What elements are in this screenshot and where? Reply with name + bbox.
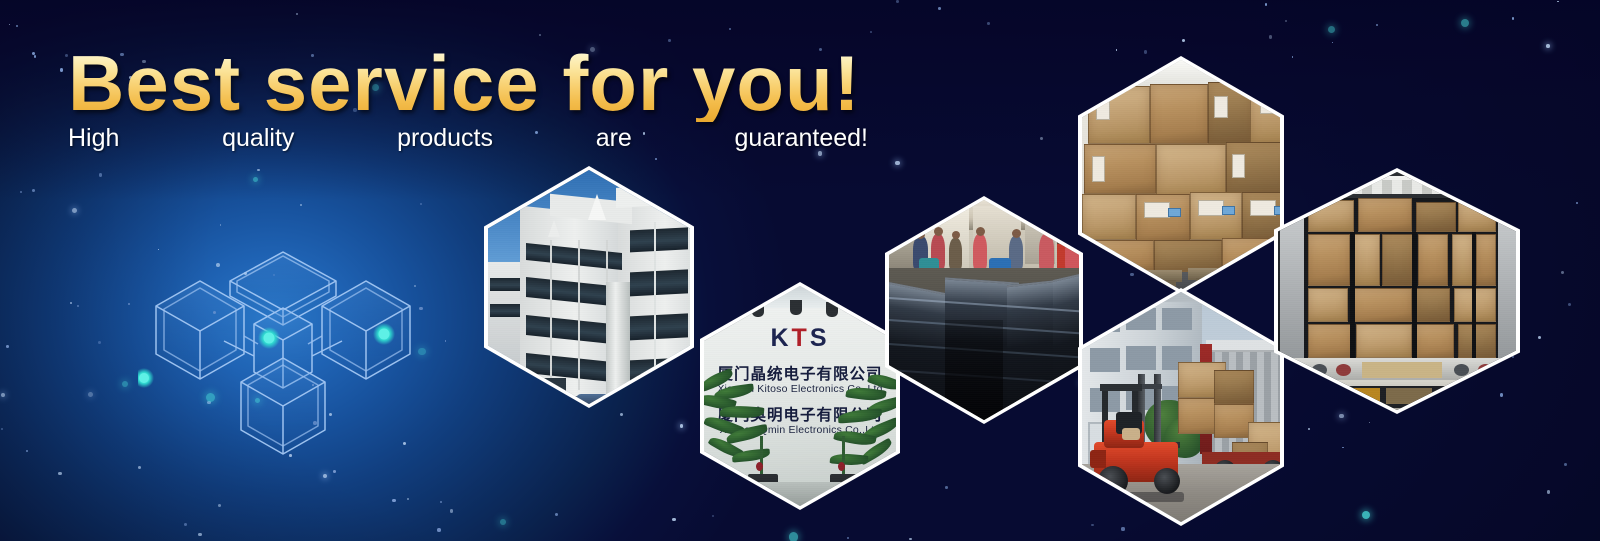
star-dot [26, 450, 28, 452]
star-dot [620, 413, 623, 416]
kts-letter-k: K [770, 324, 791, 352]
star-dot [1362, 511, 1370, 519]
star-dot [945, 486, 948, 489]
star-dot [58, 472, 62, 476]
star-dot [987, 22, 990, 25]
star-dot [122, 381, 128, 387]
star-dot [1130, 273, 1134, 277]
star-dot [909, 538, 912, 541]
star-dot [847, 537, 849, 539]
star-dot [98, 341, 101, 344]
star-dot [500, 519, 506, 525]
star-dot [729, 28, 731, 30]
star-dot [1342, 447, 1343, 448]
subheadline-word-1: quality [222, 124, 294, 153]
star-dot [440, 501, 442, 503]
headline-text: Best service for you! [68, 44, 868, 122]
star-dot [34, 55, 37, 58]
star-dot [1040, 137, 1043, 140]
star-dot [1538, 336, 1541, 339]
kts-logo: KTS [704, 324, 896, 353]
star-dot [72, 208, 78, 214]
star-dot [555, 513, 558, 516]
star-dot [99, 173, 103, 177]
star-dot [1564, 463, 1567, 466]
star-dot [218, 504, 221, 507]
star-dot [1091, 524, 1094, 527]
star-dot [1339, 414, 1344, 419]
star-dot [1461, 19, 1470, 28]
star-dot [1546, 44, 1550, 48]
star-dot [712, 515, 714, 517]
star-dot [6, 345, 9, 348]
star-dot [1285, 20, 1287, 22]
star-dot [32, 189, 35, 192]
star-dot [1328, 26, 1335, 33]
star-dot [1568, 303, 1571, 306]
star-dot [1269, 35, 1273, 39]
star-dot [60, 68, 64, 72]
star-dot [88, 392, 93, 397]
star-dot [198, 533, 201, 536]
subheadline-word-0: High [68, 124, 119, 153]
isometric-cube-icon [138, 186, 428, 486]
star-dot [672, 518, 676, 522]
star-dot [296, 13, 298, 15]
star-dot [1116, 49, 1118, 51]
star-dot [450, 509, 454, 513]
promotional-banner: Best service for you! High quality produ… [0, 0, 1600, 541]
star-dot [1369, 422, 1371, 424]
star-dot [445, 340, 447, 342]
star-dot [1, 428, 3, 430]
star-dot [938, 7, 941, 10]
star-dot [680, 424, 684, 428]
star-dot [1182, 39, 1185, 42]
star-dot [789, 532, 798, 541]
kts-letter-s: S [810, 324, 830, 352]
star-dot [1557, 1, 1559, 3]
star-dot [1376, 24, 1378, 26]
star-dot [184, 523, 187, 526]
star-dot [128, 303, 130, 305]
star-dot [1512, 17, 1515, 20]
star-dot [20, 191, 22, 193]
star-dot [1121, 527, 1124, 530]
subheadline-word-2: products [397, 124, 493, 153]
star-dot [1308, 428, 1310, 430]
star-dot [1292, 56, 1294, 58]
star-dot [1576, 202, 1579, 205]
star-dot [895, 161, 900, 166]
subheadline-word-4: guaranteed! [735, 124, 868, 153]
star-dot [1332, 42, 1334, 44]
star-dot [9, 24, 11, 26]
star-dot [1144, 50, 1148, 54]
subheadline-word-3: are [596, 124, 632, 153]
star-dot [437, 528, 441, 532]
star-dot [1561, 271, 1564, 274]
kts-letter-t: T [792, 324, 810, 352]
star-dot [1500, 393, 1503, 396]
star-dot [655, 158, 657, 160]
star-dot [870, 31, 872, 33]
star-dot [1, 393, 5, 397]
star-dot [539, 34, 541, 36]
star-dot [70, 302, 72, 304]
star-dot [257, 169, 260, 172]
subheadline-row: High quality products are guaranteed! [68, 124, 868, 153]
star-dot [16, 25, 18, 27]
star-dot [253, 177, 258, 182]
star-dot [392, 499, 396, 503]
star-dot [896, 0, 899, 3]
star-dot [1265, 3, 1267, 5]
star-dot [1547, 490, 1551, 494]
star-dot [77, 305, 79, 307]
star-dot [407, 498, 409, 500]
